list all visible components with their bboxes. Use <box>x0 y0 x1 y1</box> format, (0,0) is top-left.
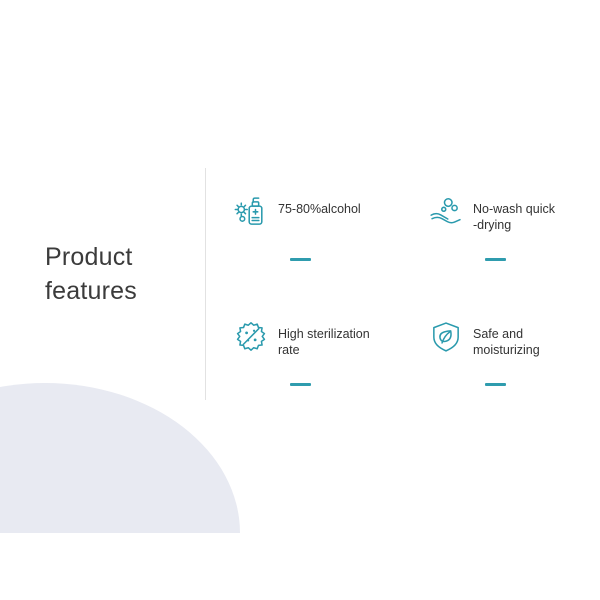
vertical-divider <box>205 168 206 400</box>
feature-grid: 75-80%alcohol No-wash quick -drying <box>233 193 583 443</box>
feature-item-safe: Safe and moisturizing <box>428 318 583 443</box>
germ-slash-icon <box>233 319 269 355</box>
page-title-line-1: Product <box>45 240 195 274</box>
feature-item-sterilization: High sterilization rate <box>233 318 428 443</box>
hand-with-bubbles-icon <box>428 194 464 230</box>
feature-label: High sterilization rate <box>278 318 370 358</box>
feature-dash <box>485 258 506 261</box>
decorative-ellipse <box>0 383 240 533</box>
page-title-line-2: features <box>45 274 195 308</box>
feature-item-no-wash: No-wash quick -drying <box>428 193 583 318</box>
page-title: Product features <box>45 240 195 308</box>
feature-label: Safe and moisturizing <box>473 318 540 358</box>
feature-dash <box>485 383 506 386</box>
sanitizer-bottle-icon <box>233 194 269 230</box>
shield-leaf-icon <box>428 319 464 355</box>
product-features-banner: Product features 75 <box>0 0 600 600</box>
feature-dash <box>290 258 311 261</box>
feature-dash <box>290 383 311 386</box>
feature-label: No-wash quick -drying <box>473 193 555 233</box>
feature-item-alcohol: 75-80%alcohol <box>233 193 428 318</box>
feature-label: 75-80%alcohol <box>278 193 361 217</box>
